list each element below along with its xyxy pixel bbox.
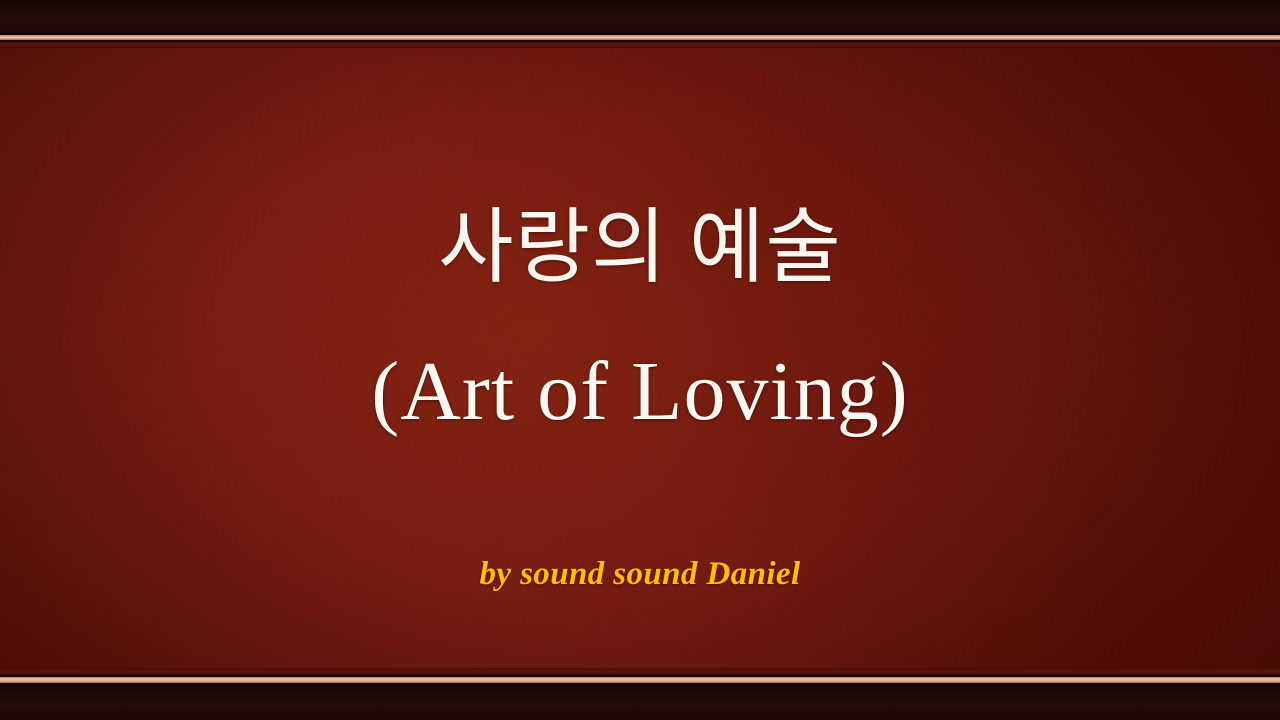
slide-title-korean: 사랑의 예술	[0, 205, 1280, 290]
title-slide: 사랑의 예술 (Art of Loving) by sound sound Da…	[0, 0, 1280, 720]
slide-title-english: (Art of Loving)	[0, 348, 1280, 435]
slide-byline: by sound sound Daniel	[0, 556, 1280, 593]
slide-content: 사랑의 예술 (Art of Loving) by sound sound Da…	[0, 48, 1280, 668]
